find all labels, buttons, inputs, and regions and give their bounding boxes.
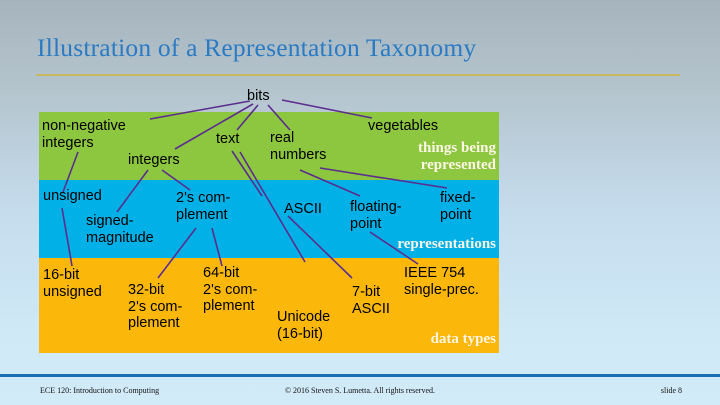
node-floating-point: floating- point <box>350 199 402 232</box>
slide: Illustration of a Representation Taxonom… <box>0 0 720 405</box>
footer-slide-number: slide 8 <box>0 386 682 398</box>
band-label-representations: representations <box>299 236 496 253</box>
node-twos-complement: 2's com- plement <box>176 190 230 223</box>
node-ieee-754-single-prec: IEEE 754 single-prec. <box>404 265 479 298</box>
node-32-bit-twos-complement: 32-bit 2's com- plement <box>128 282 182 332</box>
node-integers: integers <box>128 152 180 169</box>
node-signed-magnitude: signed- magnitude <box>86 213 154 246</box>
node-16-bit-unsigned: 16-bit unsigned <box>43 267 102 300</box>
footer-divider <box>0 374 720 377</box>
node-7-bit-ascii: 7-bit ASCII <box>352 284 390 317</box>
band-label-things-being-represented: things being represented <box>299 140 496 174</box>
node-bits: bits <box>247 88 270 105</box>
node-ascii: ASCII <box>284 201 322 218</box>
node-64-bit-twos-complement: 64-bit 2's com- plement <box>203 265 257 315</box>
node-vegetables: vegetables <box>368 118 438 135</box>
band-label-data-types: data types <box>299 331 496 348</box>
node-non-negative-integers: non-negative integers <box>42 118 126 151</box>
node-text: text <box>216 131 239 148</box>
taxonomy-diagram: bits non-negative integers integers text… <box>0 0 720 372</box>
node-unsigned: unsigned <box>43 188 102 205</box>
node-fixed-point: fixed- point <box>440 190 475 223</box>
